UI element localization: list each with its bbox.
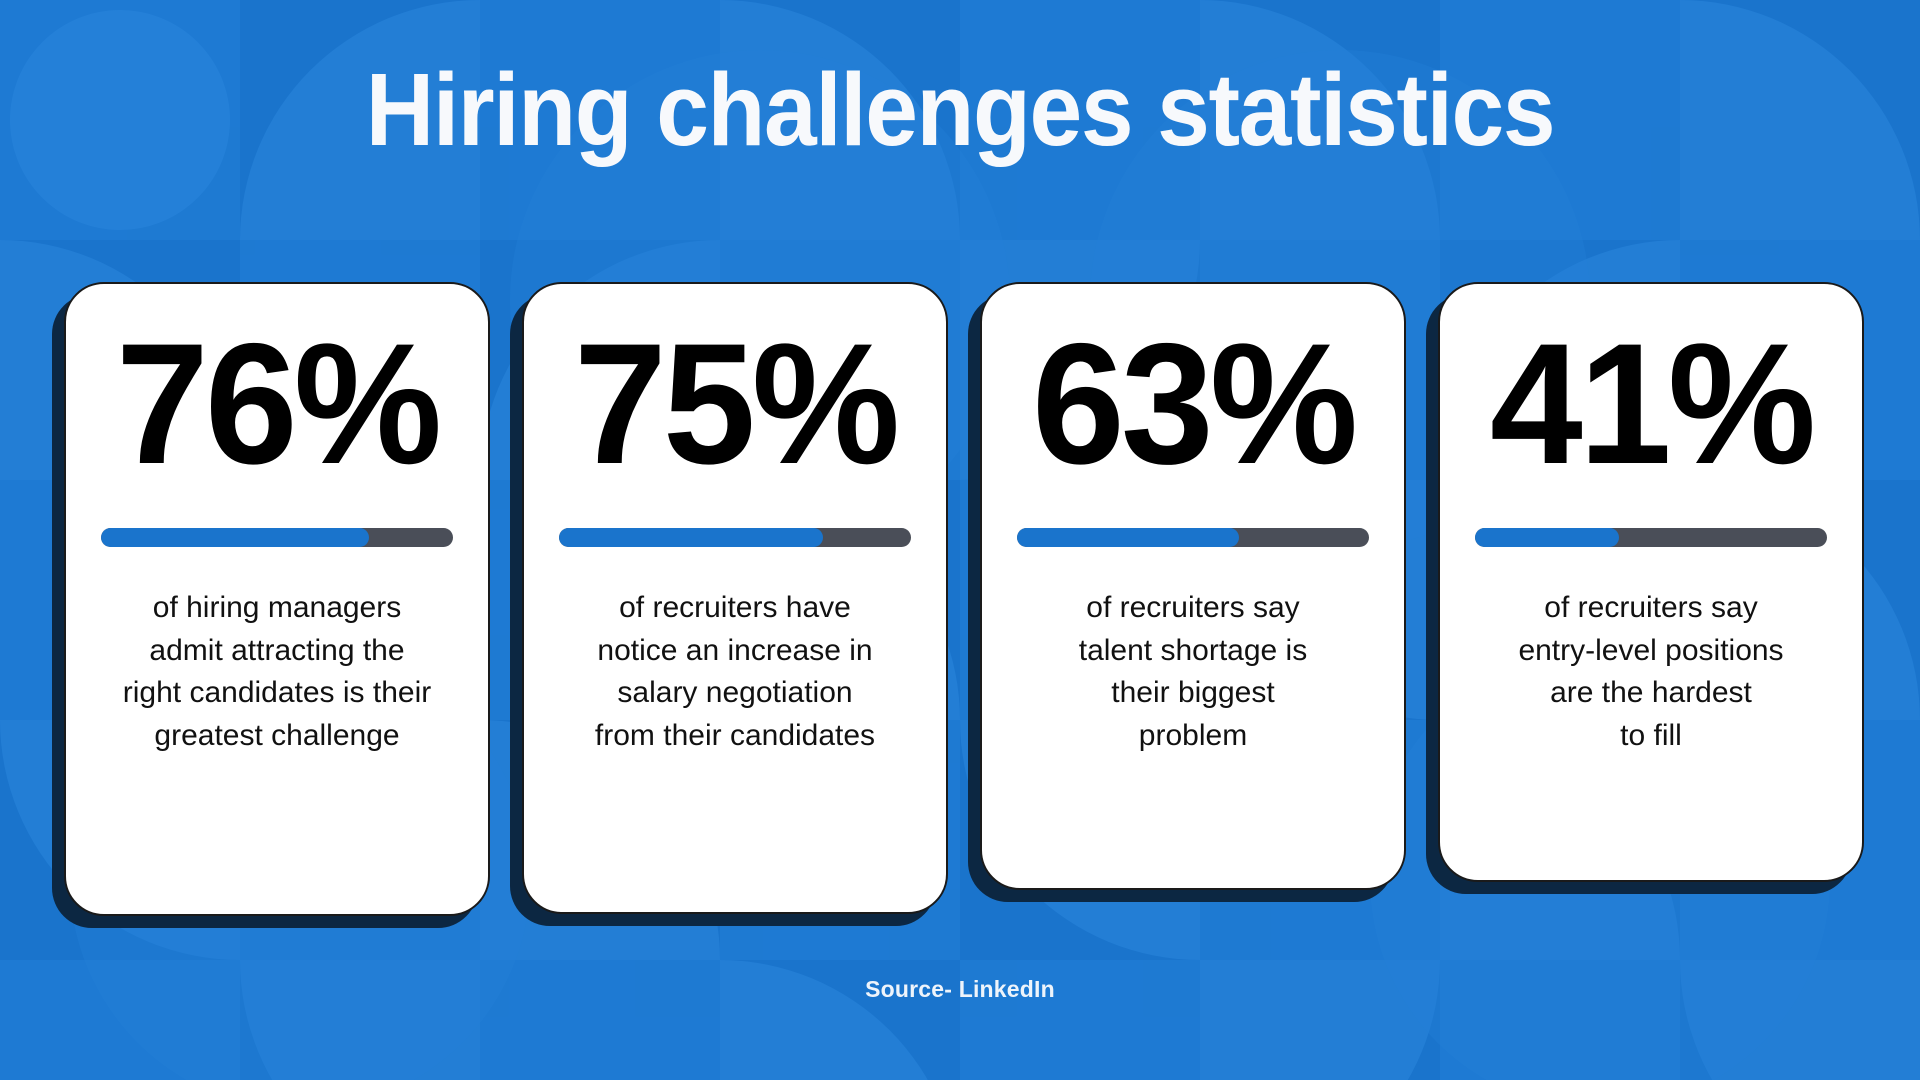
infographic-poster: Hiring challenges statistics 76% of hiri…	[0, 0, 1920, 1080]
progress-bar-fill	[559, 528, 823, 547]
stat-description: of recruiters have notice an increase in…	[595, 587, 875, 757]
stat-value: 76%	[116, 318, 438, 490]
stat-card-3: 63% of recruiters say talent shortage is…	[980, 282, 1406, 890]
progress-bar-track	[1017, 528, 1369, 547]
progress-bar-fill	[1475, 528, 1619, 547]
progress-bar-fill	[1017, 528, 1239, 547]
stat-description: of hiring managers admit attracting the …	[123, 587, 432, 757]
progress-bar-fill	[101, 528, 369, 547]
stat-description: of recruiters say talent shortage is the…	[1079, 587, 1307, 757]
stat-card: 75% of recruiters have notice an increas…	[522, 282, 948, 914]
stat-card: 63% of recruiters say talent shortage is…	[980, 282, 1406, 890]
progress-bar-track	[1475, 528, 1827, 547]
stat-card: 76% of hiring managers admit attracting …	[64, 282, 490, 916]
stat-description: of recruiters say entry-level positions …	[1518, 587, 1783, 757]
stat-card: 41% of recruiters say entry-level positi…	[1438, 282, 1864, 882]
stat-card-4: 41% of recruiters say entry-level positi…	[1438, 282, 1864, 882]
stat-value: 41%	[1490, 318, 1812, 490]
stat-card-row: 76% of hiring managers admit attracting …	[64, 282, 1864, 922]
progress-bar-track	[559, 528, 911, 547]
stat-card-1: 76% of hiring managers admit attracting …	[64, 282, 490, 916]
source-attribution: Source- LinkedIn	[0, 976, 1920, 1003]
progress-bar-track	[101, 528, 453, 547]
stat-value: 75%	[574, 318, 896, 490]
page-title: Hiring challenges statistics	[77, 58, 1843, 161]
stat-value: 63%	[1032, 318, 1354, 490]
stat-card-2: 75% of recruiters have notice an increas…	[522, 282, 948, 914]
